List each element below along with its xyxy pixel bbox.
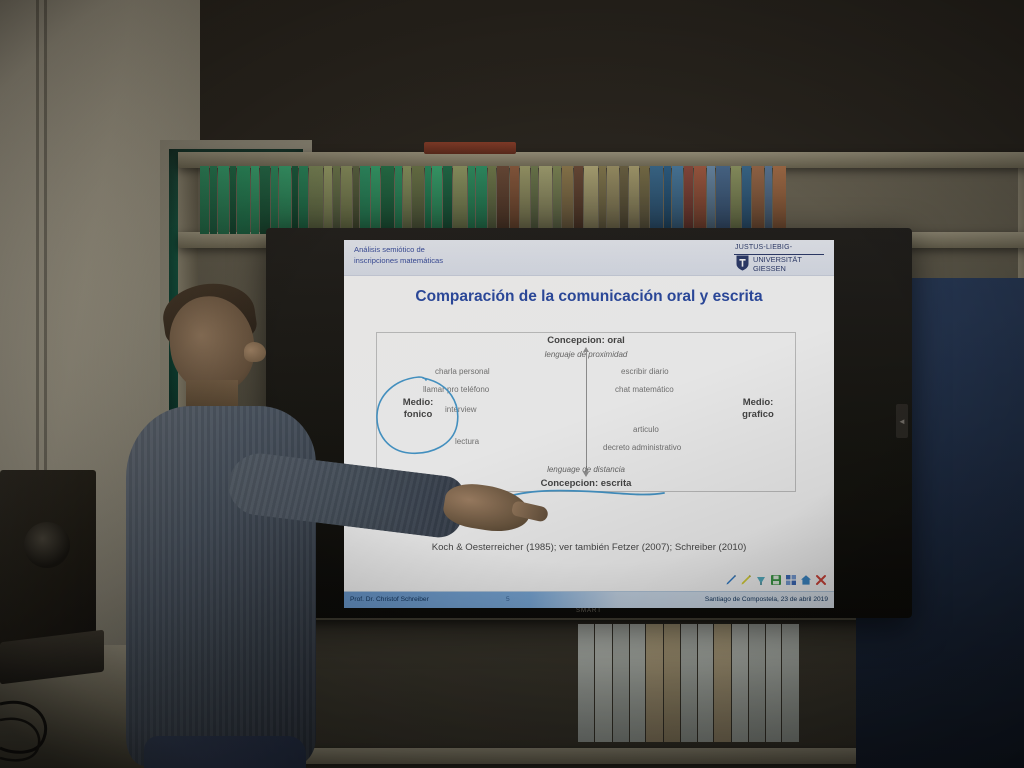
university-logo: JUSTUS-LIEBIG- UNIVERSITÄT GIESSEN <box>729 244 827 274</box>
slide-grid-icon[interactable] <box>785 574 797 586</box>
example-item: articulo <box>633 425 659 434</box>
close-icon[interactable] <box>815 574 827 586</box>
presenter-person <box>108 268 538 768</box>
books-row-bottom <box>578 624 860 742</box>
logo-line-1: JUSTUS-LIEBIG- <box>735 244 792 251</box>
logo-line-3: GIESSEN <box>753 264 786 273</box>
highlighter-icon[interactable] <box>740 574 752 586</box>
example-item: chat matemático <box>615 385 674 394</box>
slide-header-text: Análisis semiótico de inscripciones mate… <box>354 245 443 266</box>
pen-icon[interactable] <box>725 574 737 586</box>
display-brand-label: SMART <box>576 608 602 614</box>
example-item: decreto administrativo <box>603 443 681 452</box>
shield-icon <box>736 255 749 271</box>
presenter-trousers <box>144 736 306 768</box>
slide-header-line1: Análisis semiótico de <box>354 245 443 256</box>
example-item: escribir diario <box>621 367 669 376</box>
save-icon[interactable] <box>770 574 782 586</box>
medio-graphic-line1: Medio: <box>727 397 789 409</box>
medio-graphic-label: Medio: grafico <box>727 397 789 421</box>
eraser-icon[interactable] <box>755 574 767 586</box>
home-icon[interactable] <box>800 574 812 586</box>
annotation-toolbar[interactable] <box>722 572 830 588</box>
footer-place-date: Santiago de Compostela, 23 de abril 2019 <box>705 596 828 603</box>
vertical-axis <box>586 351 587 473</box>
books-row-top <box>200 166 1016 234</box>
medio-graphic-line2: grafico <box>727 409 789 421</box>
cables <box>0 690 120 768</box>
slide-header-line2: inscripciones matemáticas <box>354 256 443 267</box>
presenter-face-profile <box>244 342 266 362</box>
display-side-button[interactable]: ◄ <box>896 404 908 438</box>
folder-on-shelf <box>424 142 516 154</box>
